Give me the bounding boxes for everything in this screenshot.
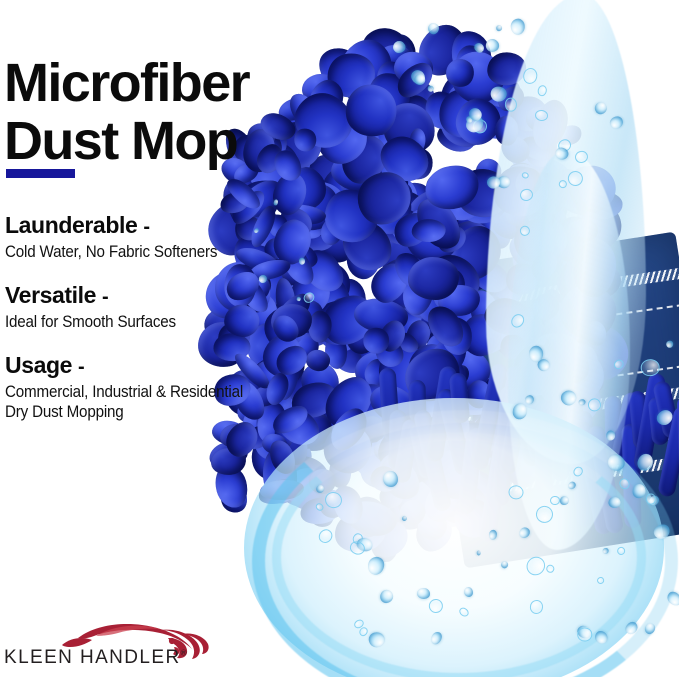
brand-name-text: KLEEN HANDLER bbox=[4, 647, 181, 668]
feature-title-text: Launderable bbox=[5, 212, 137, 238]
headline-line-2: Dust Mop bbox=[4, 112, 404, 170]
feature-description-line: Cold Water, No Fabric Softeners bbox=[5, 242, 281, 262]
feature-item: Versatile -Ideal for Smooth Surfaces bbox=[5, 282, 305, 332]
registered-trademark-icon: ® bbox=[181, 649, 187, 658]
headline-line-1: Microfiber bbox=[4, 54, 404, 112]
feature-title-dash: - bbox=[102, 286, 108, 308]
brand-name: KLEEN HANDLER® bbox=[4, 647, 187, 669]
feature-title-dash: - bbox=[143, 216, 149, 238]
feature-description-line: Dry Dust Mopping bbox=[5, 402, 281, 422]
feature-title-text: Versatile bbox=[5, 282, 96, 308]
feature-title-text: Usage bbox=[5, 352, 72, 378]
feature-item: Usage -Commercial, Industrial & Resident… bbox=[5, 352, 305, 422]
feature-description: Commercial, Industrial & ResidentialDry … bbox=[5, 382, 281, 422]
feature-description: Cold Water, No Fabric Softeners bbox=[5, 242, 281, 262]
feature-title: Versatile - bbox=[5, 282, 305, 311]
page-title: Microfiber Dust Mop bbox=[4, 54, 404, 170]
product-infographic-canvas: Microfiber Dust Mop Launderable -Cold Wa… bbox=[0, 0, 679, 677]
brand-logo: KLEEN HANDLER® bbox=[4, 616, 219, 672]
title-accent-bar bbox=[6, 169, 75, 178]
feature-description: Ideal for Smooth Surfaces bbox=[5, 312, 281, 332]
feature-title-dash: - bbox=[78, 356, 84, 378]
text-content: Microfiber Dust Mop Launderable -Cold Wa… bbox=[0, 0, 679, 677]
feature-list: Launderable -Cold Water, No Fabric Softe… bbox=[5, 212, 305, 442]
feature-item: Launderable -Cold Water, No Fabric Softe… bbox=[5, 212, 305, 262]
feature-title: Usage - bbox=[5, 352, 305, 381]
feature-description-line: Ideal for Smooth Surfaces bbox=[5, 312, 281, 332]
feature-description-line: Commercial, Industrial & Residential bbox=[5, 382, 281, 402]
feature-title: Launderable - bbox=[5, 212, 305, 241]
